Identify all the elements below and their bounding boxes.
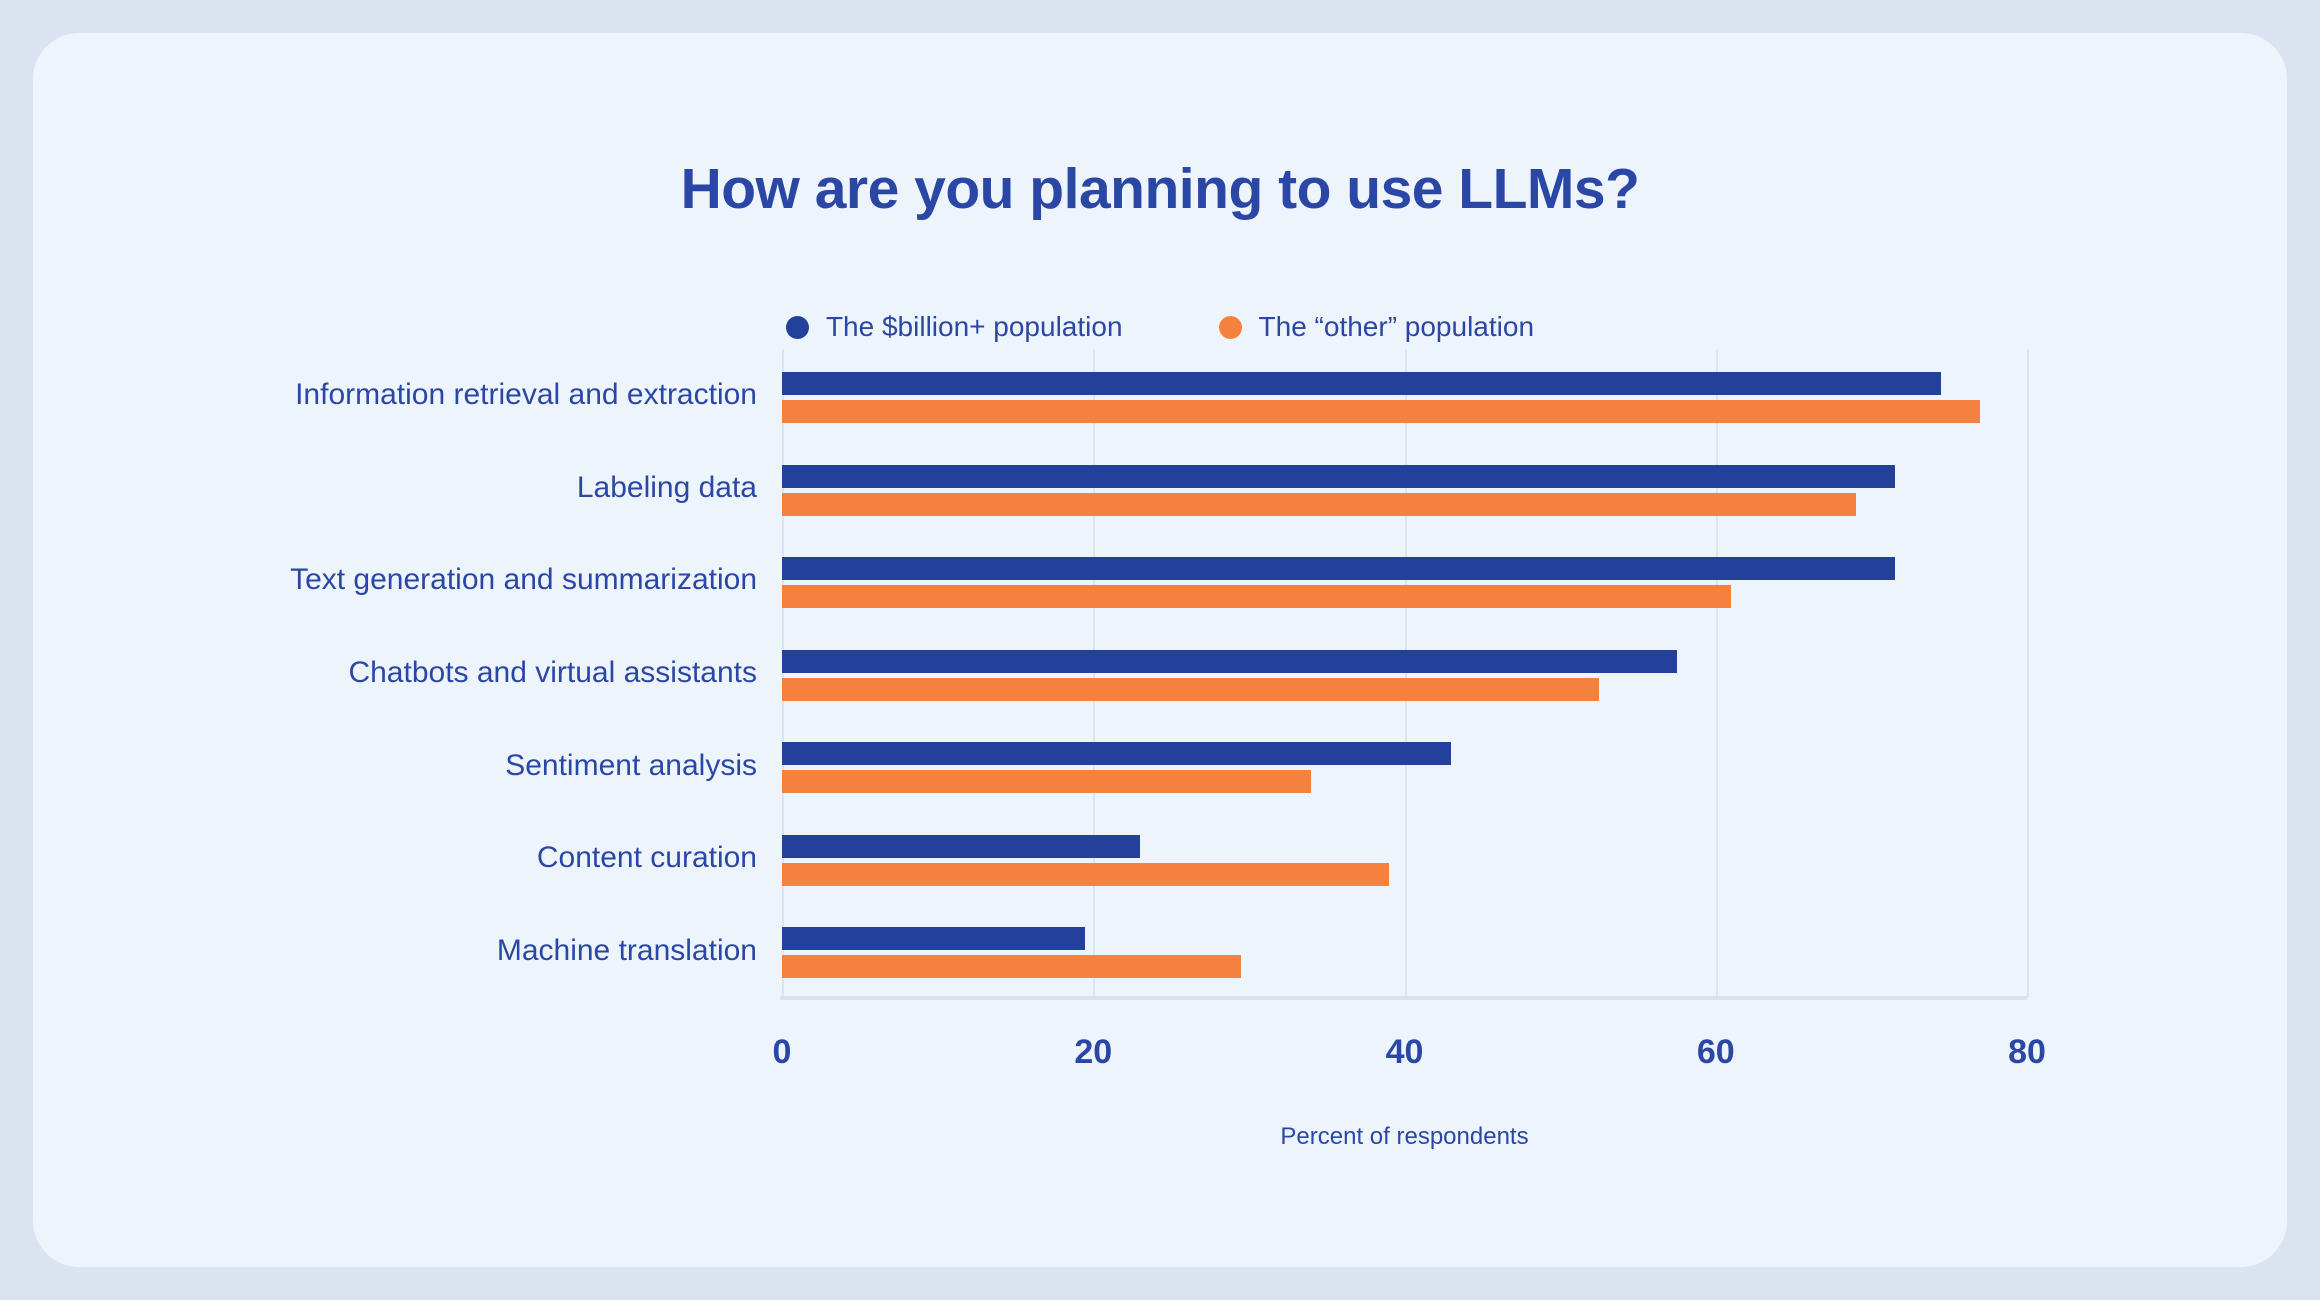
y-axis-tick: Content curation: [33, 812, 774, 905]
bar-billion-population[interactable]: [782, 372, 1941, 395]
x-axis-tick-label: 60: [1697, 1033, 1735, 1072]
x-axis-tick-label: 20: [1074, 1033, 1112, 1072]
bar-other-population[interactable]: [782, 585, 1731, 608]
chart-card: How are you planning to use LLMs? The $b…: [33, 33, 2287, 1267]
y-axis-tick: Labeling data: [33, 442, 774, 535]
x-axis-tick-label: 0: [773, 1033, 792, 1072]
bar-billion-population[interactable]: [782, 835, 1140, 858]
bar-billion-population[interactable]: [782, 742, 1451, 765]
bar-group: [782, 812, 2027, 905]
y-axis-tick-label: Labeling data: [577, 471, 757, 505]
bar-other-population[interactable]: [782, 400, 1980, 423]
x-axis-tick-label: 80: [2008, 1033, 2046, 1072]
bar-other-population[interactable]: [782, 863, 1389, 886]
bar-other-population[interactable]: [782, 678, 1599, 701]
y-axis-tick-label: Information retrieval and extraction: [295, 378, 757, 412]
bar-group: [782, 627, 2027, 720]
y-axis-tick: Text generation and summarization: [33, 534, 774, 627]
bar-group: [782, 904, 2027, 997]
y-axis-tick-label: Chatbots and virtual assistants: [348, 656, 757, 690]
bar-billion-population[interactable]: [782, 557, 1895, 580]
bar-group: [782, 349, 2027, 442]
bar-billion-population[interactable]: [782, 927, 1085, 950]
y-axis-category-labels: Information retrieval and extraction Lab…: [33, 349, 774, 997]
bar-group: [782, 442, 2027, 535]
y-axis-tick-label: Text generation and summarization: [290, 563, 757, 597]
bar-other-population[interactable]: [782, 955, 1241, 978]
y-axis-tick: Chatbots and virtual assistants: [33, 627, 774, 720]
gridline: [2027, 349, 2029, 997]
y-axis-tick: Information retrieval and extraction: [33, 349, 774, 442]
bar-other-population[interactable]: [782, 770, 1311, 793]
x-axis-title: Percent of respondents: [782, 1123, 2027, 1151]
bar-other-population[interactable]: [782, 493, 1856, 516]
bar-group: [782, 719, 2027, 812]
x-axis-tick-label: 40: [1386, 1033, 1424, 1072]
y-axis-tick-label: Sentiment analysis: [505, 749, 757, 783]
y-axis-tick: Sentiment analysis: [33, 719, 774, 812]
plot-area: [782, 349, 2027, 997]
y-axis-tick: Machine translation: [33, 904, 774, 997]
bar-rows: [782, 349, 2027, 997]
bar-billion-population[interactable]: [782, 465, 1895, 488]
bar-billion-population[interactable]: [782, 650, 1677, 673]
y-axis-tick-label: Content curation: [537, 841, 757, 875]
x-axis-tick-labels: 020406080: [782, 1033, 2027, 1083]
y-axis-tick-label: Machine translation: [497, 934, 757, 968]
bar-group: [782, 534, 2027, 627]
chart-plot-wrapper: Information retrieval and extraction Lab…: [33, 33, 2287, 1267]
